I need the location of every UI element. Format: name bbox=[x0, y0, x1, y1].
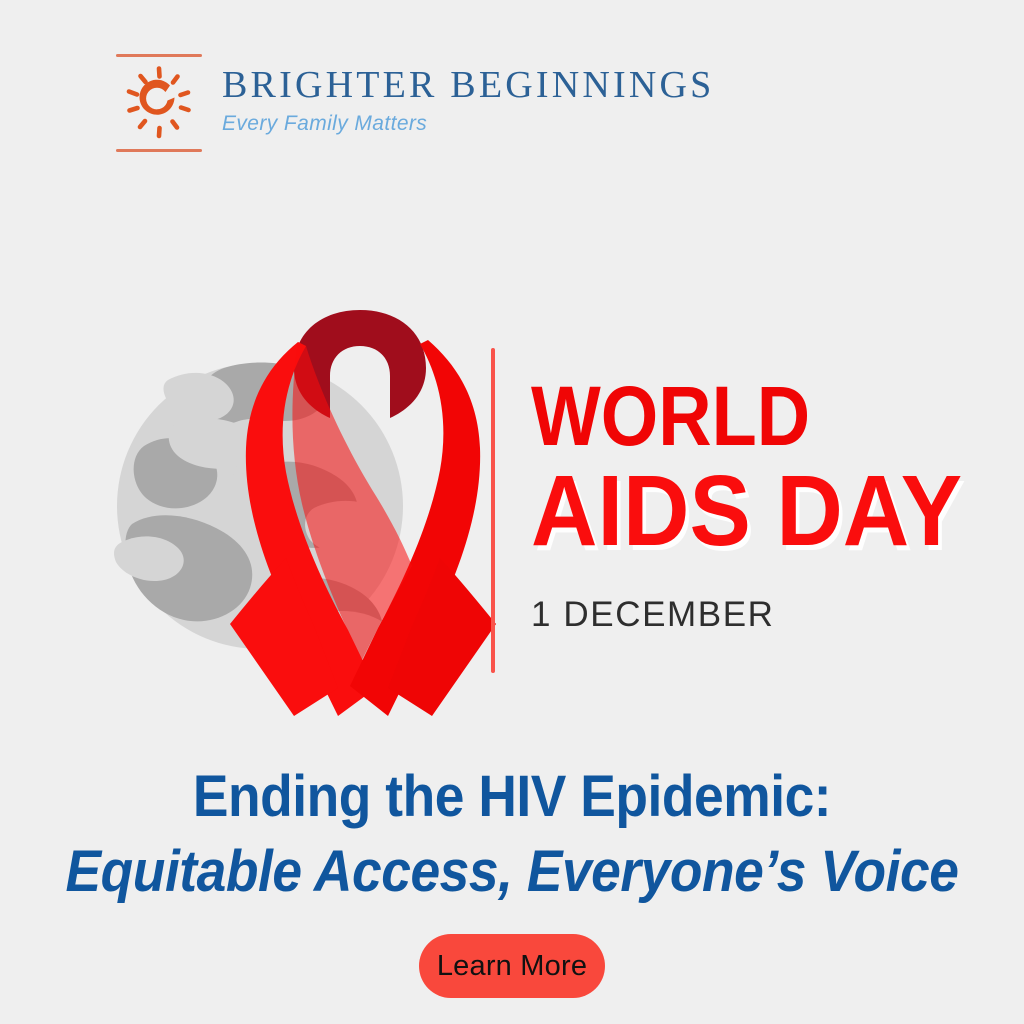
title-line-aids-day: AIDS DAY bbox=[531, 463, 954, 559]
hero-graphic bbox=[108, 296, 498, 726]
logo-tagline: Every Family Matters bbox=[222, 113, 715, 134]
learn-more-button[interactable]: Learn More bbox=[419, 934, 605, 998]
logo-wordmark: BRIGHTER BEGINNINGS Every Family Matters bbox=[222, 52, 715, 134]
logo-rule-bottom bbox=[116, 149, 202, 152]
poster-canvas: BRIGHTER BEGINNINGS Every Family Matters bbox=[0, 0, 1024, 1024]
event-date: 1 DECEMBER bbox=[531, 595, 991, 635]
title-line-world: WORLD bbox=[531, 378, 936, 455]
title-divider bbox=[491, 348, 495, 673]
campaign-headline: Ending the HIV Epidemic: Equitable Acces… bbox=[0, 766, 1024, 903]
logo-mark bbox=[112, 52, 208, 152]
cta-container: Learn More bbox=[0, 934, 1024, 998]
headline-line-1: Ending the HIV Epidemic: bbox=[41, 766, 983, 829]
globe-and-ribbon-illustration bbox=[108, 296, 498, 726]
sun-icon bbox=[120, 66, 198, 140]
brand-logo[interactable]: BRIGHTER BEGINNINGS Every Family Matters bbox=[112, 52, 715, 152]
title-block: WORLD AIDS DAY 1 DECEMBER bbox=[531, 378, 991, 635]
logo-rule-top bbox=[116, 54, 202, 57]
logo-name: BRIGHTER BEGINNINGS bbox=[222, 66, 715, 104]
headline-line-2: Equitable Access, Everyone’s Voice bbox=[41, 841, 983, 904]
